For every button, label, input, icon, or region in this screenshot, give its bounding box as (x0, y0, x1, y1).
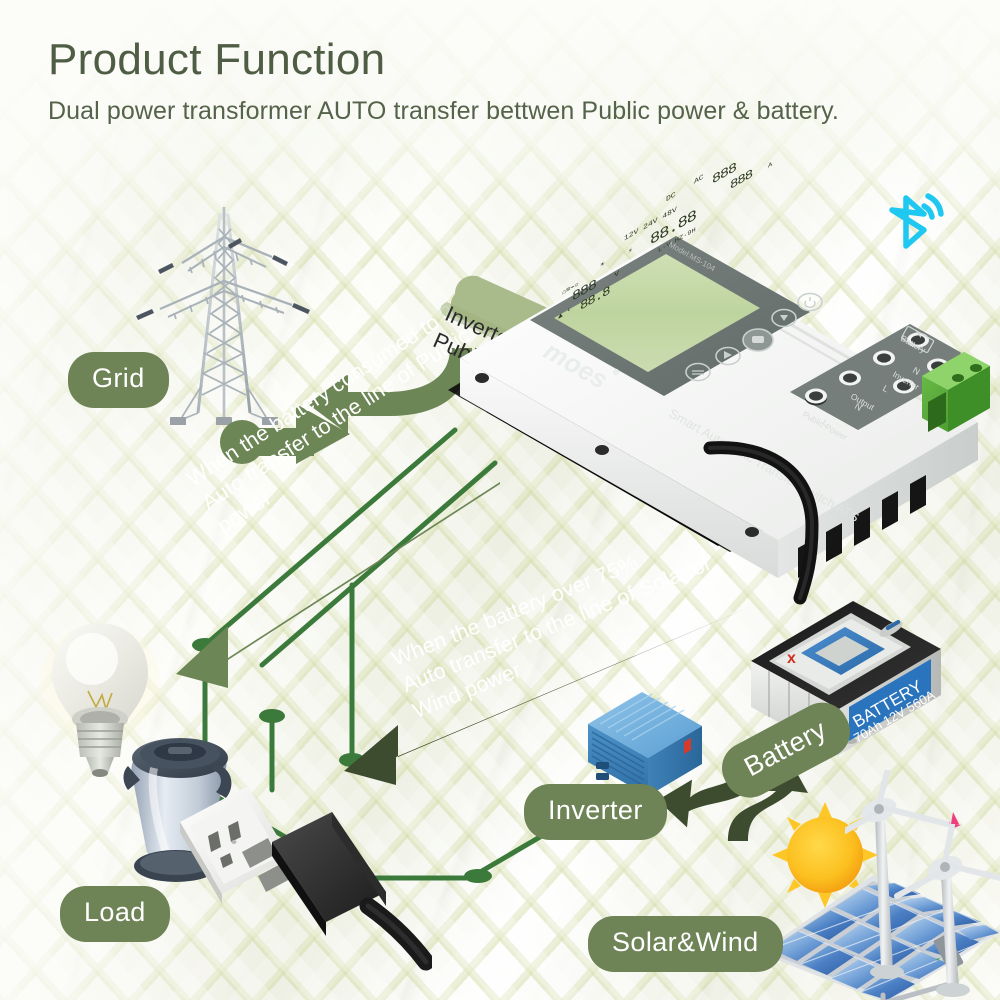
wind-turbine-icon (845, 770, 1000, 1000)
device-brand-dot (613, 369, 619, 375)
svg-text:DC: DC (666, 191, 676, 204)
label-load-text: Load (84, 897, 146, 927)
label-grid-text: Grid (92, 363, 145, 393)
wall-outlet-and-plug (172, 780, 432, 980)
label-solar-wind: Solar&Wind (588, 916, 783, 972)
label-solar-wind-text: Solar&Wind (612, 927, 759, 957)
infographic-canvas: Product Function Dual power transformer … (0, 0, 1000, 1000)
wind-turbine-front (897, 812, 1000, 997)
label-inverter-text: Inverter (548, 795, 643, 825)
svg-text:⚡: ⚡ (628, 246, 633, 256)
svg-text:☀: ☀ (599, 260, 605, 271)
svg-text:A: A (768, 161, 773, 171)
svg-text:AC: AC (694, 173, 704, 186)
label-load: Load (60, 886, 170, 942)
label-grid: Grid (68, 352, 169, 408)
set-button[interactable] (743, 329, 773, 351)
label-inverter: Inverter (524, 784, 667, 840)
battery-negative-mark: x (787, 650, 796, 667)
power-button[interactable] (798, 294, 822, 311)
wire-device-to-battery (700, 430, 880, 630)
